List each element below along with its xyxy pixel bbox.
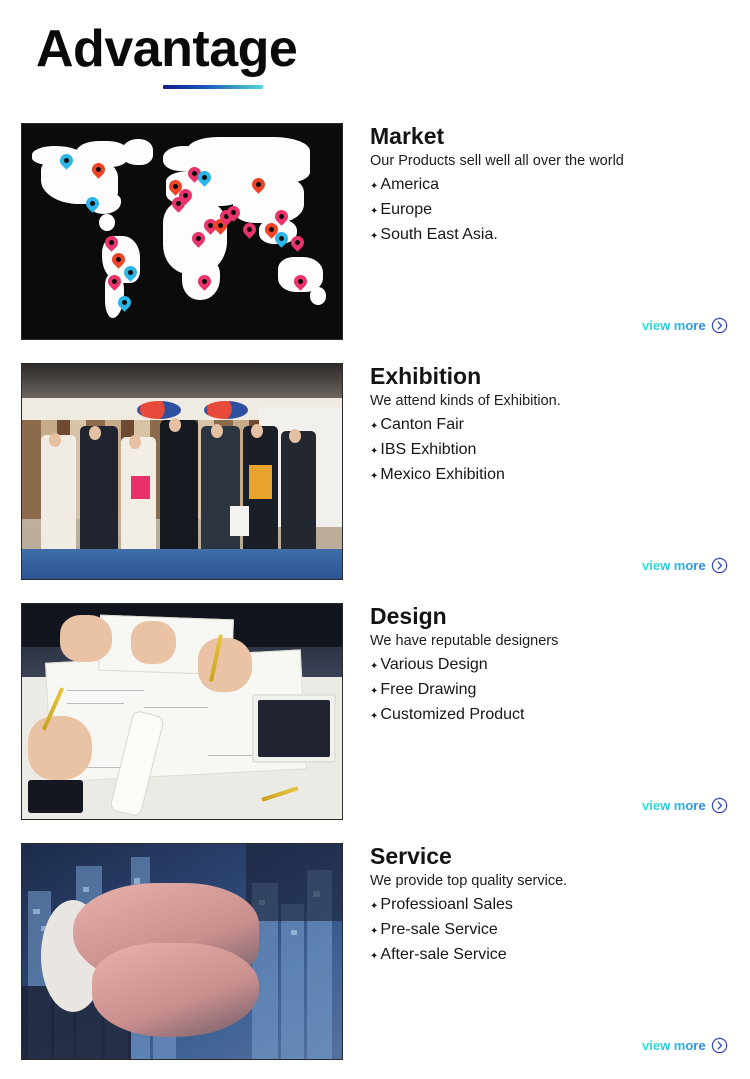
circle-chevron-right-icon xyxy=(711,797,728,814)
handshake-city-photo xyxy=(22,844,342,1059)
map-pin-pink xyxy=(189,229,207,247)
design-image xyxy=(21,603,343,820)
list-item: ✦Various Design xyxy=(370,653,740,678)
section-title-exhibition: Exhibition xyxy=(370,362,740,390)
blueprint-design-photo xyxy=(22,604,342,819)
map-pin-pink xyxy=(102,233,120,251)
exhibition-text-block: Exhibition We attend kinds of Exhibition… xyxy=(370,358,740,488)
list-item-label: Customized Product xyxy=(380,703,524,726)
advantage-row-exhibition: Exhibition We attend kinds of Exhibition… xyxy=(0,358,750,598)
list-item-label: Mexico Exhibition xyxy=(380,463,505,486)
advantage-row-design: Design We have reputable designers ✦Vari… xyxy=(0,598,750,838)
section-title-design: Design xyxy=(370,602,740,630)
diamond-bullet-icon: ✦ xyxy=(370,440,378,463)
diamond-bullet-icon: ✦ xyxy=(370,465,378,488)
view-more-link-market[interactable]: view more xyxy=(642,317,728,334)
list-item-label: IBS Exhibtion xyxy=(380,438,476,461)
advantage-page: Advantage xyxy=(0,0,750,1079)
design-text-block: Design We have reputable designers ✦Vari… xyxy=(370,598,740,728)
map-pin-red xyxy=(109,250,127,268)
section-subtitle-exhibition: We attend kinds of Exhibition. xyxy=(370,391,740,412)
list-item-label: After-sale Service xyxy=(380,943,506,966)
view-more-label: view more xyxy=(642,798,706,813)
list-item-label: Canton Fair xyxy=(380,413,464,436)
page-header: Advantage xyxy=(0,0,750,118)
service-image xyxy=(21,843,343,1060)
list-item-label: Free Drawing xyxy=(380,678,476,701)
section-subtitle-service: We provide top quality service. xyxy=(370,871,740,892)
design-bullet-list: ✦Various Design ✦Free Drawing ✦Customize… xyxy=(370,653,740,728)
map-pin-pink xyxy=(195,272,213,290)
market-text-block: Market Our Products sell well all over t… xyxy=(370,118,740,248)
exhibition-bullet-list: ✦Canton Fair ✦IBS Exhibtion ✦Mexico Exhi… xyxy=(370,413,740,488)
advantage-row-market: Market Our Products sell well all over t… xyxy=(0,118,750,358)
list-item: ✦Customized Product xyxy=(370,703,740,728)
map-pin-pink xyxy=(291,272,309,290)
diamond-bullet-icon: ✦ xyxy=(370,415,378,438)
section-subtitle-market: Our Products sell well all over the worl… xyxy=(370,151,740,172)
diamond-bullet-icon: ✦ xyxy=(370,895,378,918)
diamond-bullet-icon: ✦ xyxy=(370,175,378,198)
diamond-bullet-icon: ✦ xyxy=(370,225,378,248)
page-title: Advantage xyxy=(36,18,297,80)
title-underline-accent xyxy=(163,85,263,89)
section-title-service: Service xyxy=(370,842,740,870)
diamond-bullet-icon: ✦ xyxy=(370,920,378,943)
list-item-label: Europe xyxy=(380,198,432,221)
advantage-row-service: Service We provide top quality service. … xyxy=(0,838,750,1078)
list-item-label: Various Design xyxy=(380,653,487,676)
service-text-block: Service We provide top quality service. … xyxy=(370,838,740,968)
list-item-label: Professioanl Sales xyxy=(380,893,513,916)
list-item: ✦IBS Exhibtion xyxy=(370,438,740,463)
map-pin-pink xyxy=(240,220,258,238)
exhibition-image xyxy=(21,363,343,580)
circle-chevron-right-icon xyxy=(711,1037,728,1054)
map-pin-red xyxy=(250,175,268,193)
list-item: ✦Mexico Exhibition xyxy=(370,463,740,488)
view-more-link-service[interactable]: view more xyxy=(642,1037,728,1054)
map-pin-cyan xyxy=(83,194,101,212)
trade-show-booth-photo xyxy=(22,364,342,579)
view-more-label: view more xyxy=(642,558,706,573)
list-item-label: America xyxy=(380,173,439,196)
circle-chevron-right-icon xyxy=(711,317,728,334)
list-item: ✦Canton Fair xyxy=(370,413,740,438)
section-title-market: Market xyxy=(370,122,740,150)
diamond-bullet-icon: ✦ xyxy=(370,705,378,728)
diamond-bullet-icon: ✦ xyxy=(370,200,378,223)
view-more-link-exhibition[interactable]: view more xyxy=(642,557,728,574)
list-item: ✦America xyxy=(370,173,740,198)
service-bullet-list: ✦Professioanl Sales ✦Pre-sale Service ✦A… xyxy=(370,893,740,968)
market-image xyxy=(21,123,343,340)
diamond-bullet-icon: ✦ xyxy=(370,680,378,703)
list-item: ✦South East Asia. xyxy=(370,223,740,248)
map-pin-red xyxy=(90,160,108,178)
map-pin-layer xyxy=(22,124,342,339)
list-item-label: South East Asia. xyxy=(380,223,497,246)
map-pin-cyan xyxy=(115,293,133,311)
diamond-bullet-icon: ✦ xyxy=(370,945,378,968)
map-pin-pink xyxy=(288,233,306,251)
market-bullet-list: ✦America ✦Europe ✦South East Asia. xyxy=(370,173,740,248)
view-more-label: view more xyxy=(642,1038,706,1053)
view-more-link-design[interactable]: view more xyxy=(642,797,728,814)
map-pin-cyan xyxy=(58,151,76,169)
view-more-label: view more xyxy=(642,318,706,333)
map-pin-cyan xyxy=(122,263,140,281)
list-item: ✦Professioanl Sales xyxy=(370,893,740,918)
circle-chevron-right-icon xyxy=(711,557,728,574)
list-item: ✦After-sale Service xyxy=(370,943,740,968)
map-pin-pink xyxy=(106,272,124,290)
diamond-bullet-icon: ✦ xyxy=(370,655,378,678)
list-item: ✦Free Drawing xyxy=(370,678,740,703)
section-subtitle-design: We have reputable designers xyxy=(370,631,740,652)
list-item-label: Pre-sale Service xyxy=(380,918,497,941)
list-item: ✦Pre-sale Service xyxy=(370,918,740,943)
list-item: ✦Europe xyxy=(370,198,740,223)
